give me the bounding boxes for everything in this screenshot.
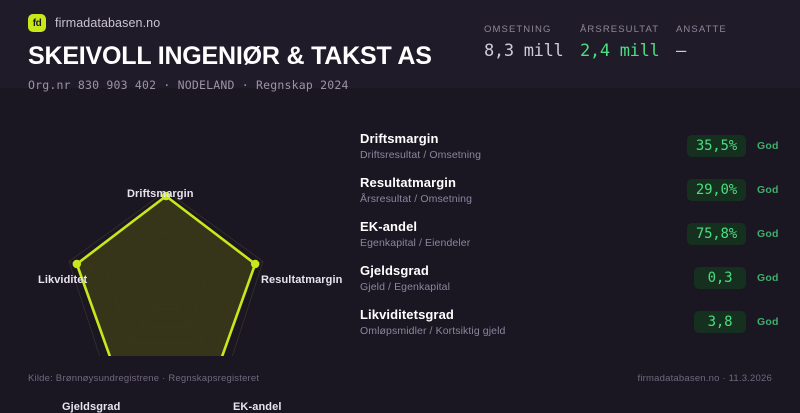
stat-arsresultat: ÅRSRESULTAT 2,4 mill	[580, 24, 676, 61]
page-footer: Kilde: Brønnøysundregistrene · Regnskaps…	[0, 356, 800, 400]
metric-rating: God	[746, 228, 792, 240]
metric-value-wrap: 75,8% God	[687, 223, 792, 245]
metric-name: Gjeldsgrad	[360, 263, 694, 278]
metric-formula: Driftsresultat / Omsetning	[360, 149, 687, 161]
metric-text: Likviditetsgrad Omløpsmidler / Kortsikti…	[360, 307, 694, 337]
metric-row-driftsmargin[interactable]: Driftsmargin Driftsresultat / Omsetning …	[360, 124, 792, 168]
stat-value: 8,3 mill	[484, 41, 580, 61]
brand-name: firmadatabasen.no	[55, 16, 160, 30]
metric-formula: Årsresultat / Omsetning	[360, 193, 687, 205]
metric-row-ek-andel[interactable]: EK-andel Egenkapital / Eiendeler 75,8% G…	[360, 212, 792, 256]
metric-text: Driftsmargin Driftsresultat / Omsetning	[360, 131, 687, 161]
metric-value-badge: 3,8	[694, 311, 746, 333]
metric-name: Driftsmargin	[360, 131, 687, 146]
metric-formula: Gjeld / Egenkapital	[360, 281, 694, 293]
axis-label-likviditet: Likviditet	[38, 274, 87, 286]
stat-label: OMSETNING	[484, 24, 580, 35]
radar-data-area	[77, 196, 255, 356]
metric-rating: God	[746, 184, 792, 196]
metric-text: EK-andel Egenkapital / Eiendeler	[360, 219, 687, 249]
stat-value: –	[676, 41, 772, 61]
stat-label: ANSATTE	[676, 24, 772, 35]
radar-point-likviditet[interactable]	[73, 260, 81, 268]
metric-value-wrap: 35,5% God	[687, 135, 792, 157]
metric-rating: God	[746, 272, 792, 284]
firmadatabasen-logo-icon: fd	[28, 14, 46, 32]
stat-omsetning: OMSETNING 8,3 mill	[484, 24, 580, 61]
stat-value: 2,4 mill	[580, 41, 676, 61]
radar-point-resultatmargin[interactable]	[251, 260, 259, 268]
footer-source: Kilde: Brønnøysundregistrene · Regnskaps…	[28, 373, 259, 384]
metric-row-likviditetsgrad[interactable]: Likviditetsgrad Omløpsmidler / Kortsikti…	[360, 300, 792, 344]
radar-chart: Driftsmargin Resultatmargin EK-andel Gje…	[0, 88, 350, 356]
metric-value-wrap: 0,3 God	[694, 267, 792, 289]
page-header: fd firmadatabasen.no SKEIVOLL INGENIØR &…	[0, 0, 800, 88]
metric-name: Resultatmargin	[360, 175, 687, 190]
brand-row[interactable]: fd firmadatabasen.no	[28, 14, 432, 32]
metric-text: Resultatmargin Årsresultat / Omsetning	[360, 175, 687, 205]
metrics-list: Driftsmargin Driftsresultat / Omsetning …	[350, 88, 800, 356]
metric-value-badge: 35,5%	[687, 135, 746, 157]
radar-chart-svg	[0, 88, 350, 356]
metric-name: Likviditetsgrad	[360, 307, 694, 322]
metric-value-badge: 29,0%	[687, 179, 746, 201]
page-title: SKEIVOLL INGENIØR & TAKST AS	[28, 42, 432, 71]
stat-ansatte: ANSATTE –	[676, 24, 772, 61]
metric-formula: Egenkapital / Eiendeler	[360, 237, 687, 249]
metric-text: Gjeldsgrad Gjeld / Egenkapital	[360, 263, 694, 293]
axis-label-driftsmargin: Driftsmargin	[127, 188, 194, 200]
metric-row-gjeldsgrad[interactable]: Gjeldsgrad Gjeld / Egenkapital 0,3 God	[360, 256, 792, 300]
main-content: Driftsmargin Resultatmargin EK-andel Gje…	[0, 88, 800, 356]
footer-attribution: firmadatabasen.no · 11.3.2026	[638, 373, 773, 384]
metric-rating: God	[746, 140, 792, 152]
metric-formula: Omløpsmidler / Kortsiktig gjeld	[360, 325, 694, 337]
metric-value-badge: 75,8%	[687, 223, 746, 245]
metric-value-wrap: 29,0% God	[687, 179, 792, 201]
metric-row-resultatmargin[interactable]: Resultatmargin Årsresultat / Omsetning 2…	[360, 168, 792, 212]
metric-rating: God	[746, 316, 792, 328]
stat-label: ÅRSRESULTAT	[580, 24, 676, 35]
axis-label-resultatmargin: Resultatmargin	[261, 274, 342, 286]
metric-value-badge: 0,3	[694, 267, 746, 289]
axis-label-ek-andel: EK-andel	[233, 401, 281, 413]
header-identity: fd firmadatabasen.no SKEIVOLL INGENIØR &…	[28, 14, 432, 92]
axis-label-gjeldsgrad: Gjeldsgrad	[62, 401, 120, 413]
header-stats: OMSETNING 8,3 mill ÅRSRESULTAT 2,4 mill …	[484, 24, 772, 61]
metric-value-wrap: 3,8 God	[694, 311, 792, 333]
metric-name: EK-andel	[360, 219, 687, 234]
